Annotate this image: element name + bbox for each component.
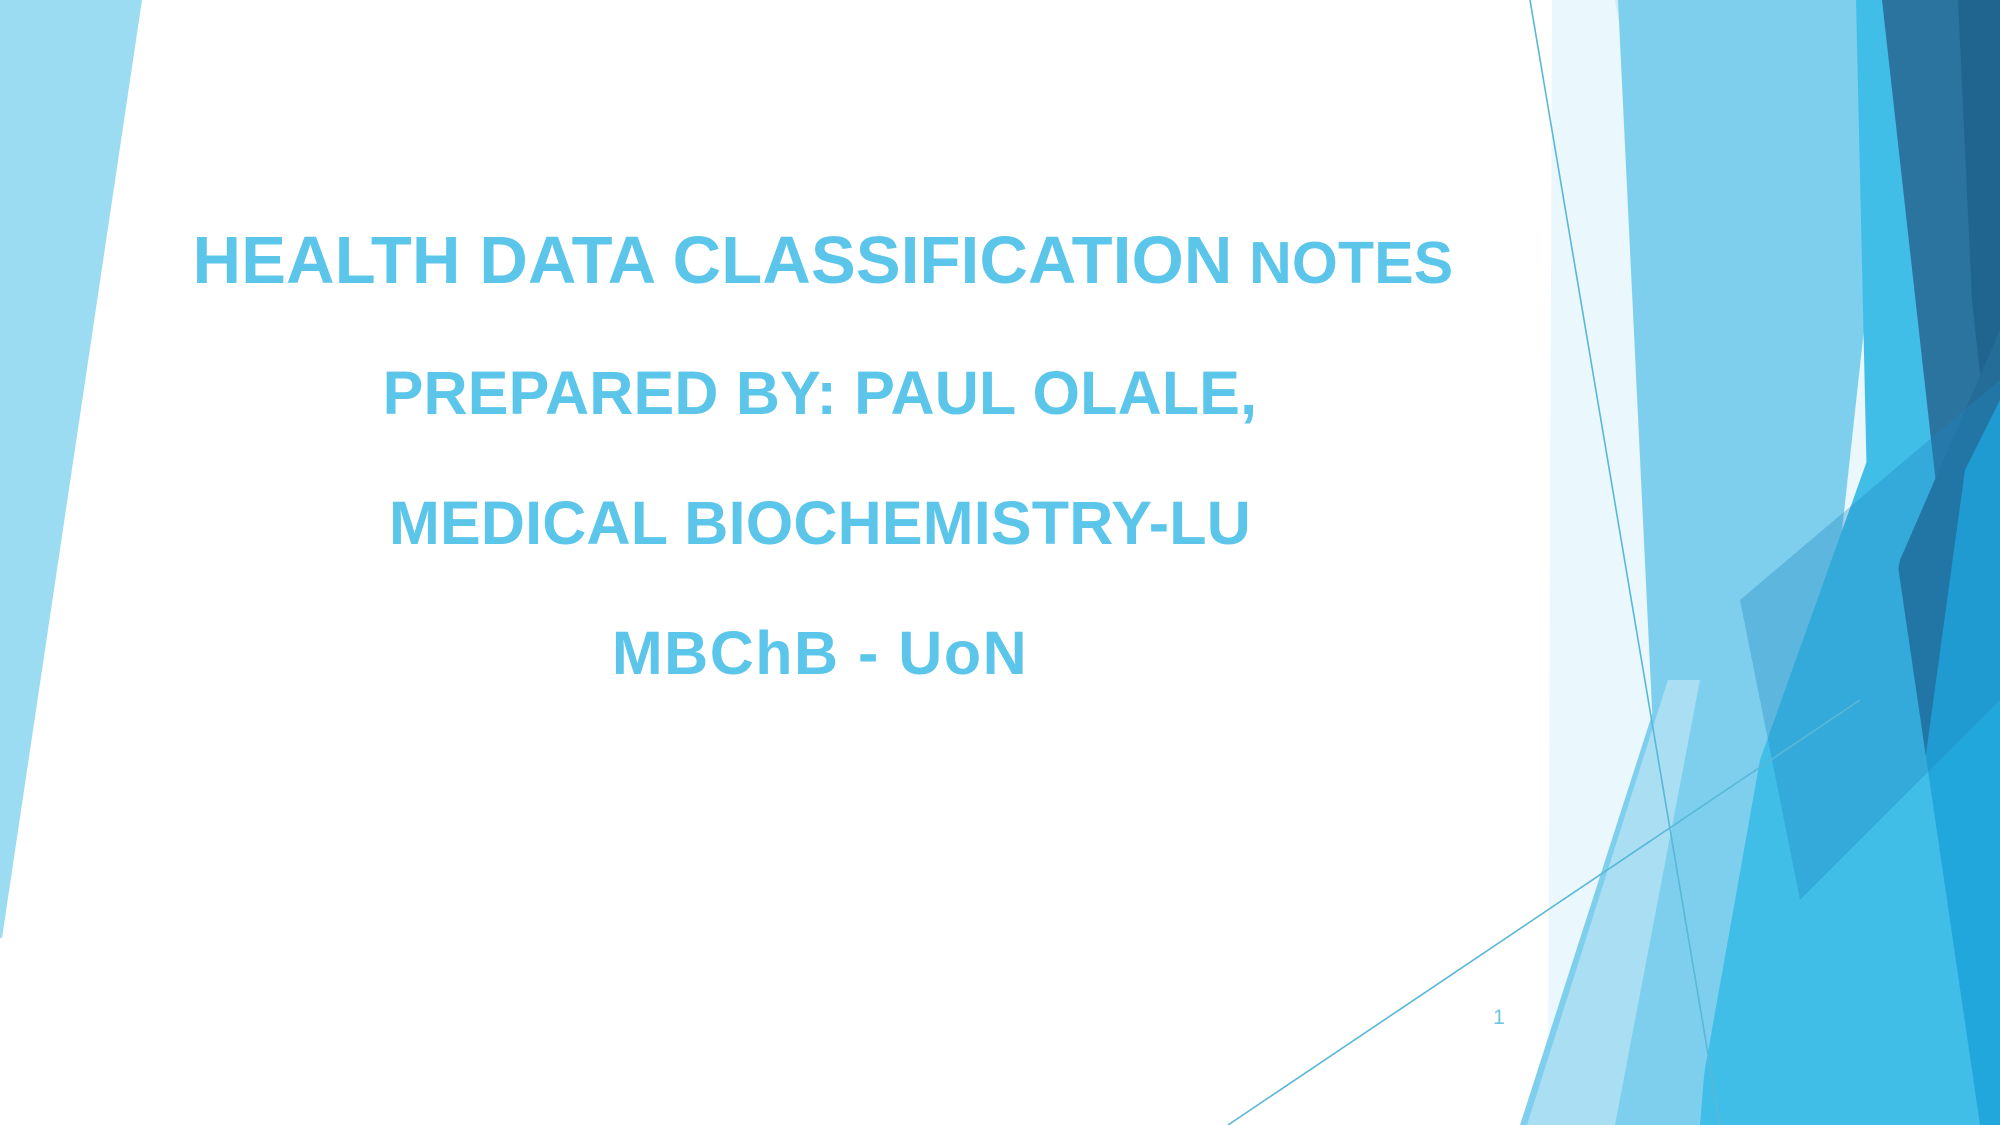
title-block: HEALTH DATA CLASSIFICATION NOTES PREPARE… [110,196,1530,718]
hairline-steep [1530,0,1720,1125]
deco-dark-strip [1958,0,2000,560]
deco-bottom-left-wedge [1520,640,1740,1125]
deco-bottom-wedge [1695,430,1980,1125]
title-line-2: PREPARED BY: PAUL OLALE, [110,328,1530,458]
deco-steel-triangle [1790,330,2000,1125]
deco-softband [1548,0,1720,1125]
slide-canvas: HEALTH DATA CLASSIFICATION NOTES PREPARE… [0,0,2000,1125]
deco-pale-panel [1553,0,2000,1125]
deco-bottom-pale [1527,680,1700,1125]
deco-lower-cyan [1875,400,2000,1125]
deco-lightblue-slab [1490,0,1895,1125]
deco-cyan-column [1618,0,1900,1125]
deco-deepblue-slab [1882,0,2000,700]
deco-cyan-band [1800,0,2000,1125]
title-line-3: MEDICAL BIOCHEMISTRY-LU [110,458,1530,588]
deco-pale-sliver [1610,0,1880,1125]
page-number: 1 [1479,1006,1519,1030]
title-line-4: MBChB - UoN [110,588,1530,718]
deco-pale-wedge [1534,0,1790,1125]
title-line-1-main: HEALTH DATA CLASSIFICATION [193,223,1233,298]
deco-overlay-tint [1740,380,2000,900]
title-line-1: HEALTH DATA CLASSIFICATION NOTES [110,196,1530,328]
title-line-1-small: NOTES [1233,230,1454,296]
hairline-shallow [1228,700,1860,1125]
